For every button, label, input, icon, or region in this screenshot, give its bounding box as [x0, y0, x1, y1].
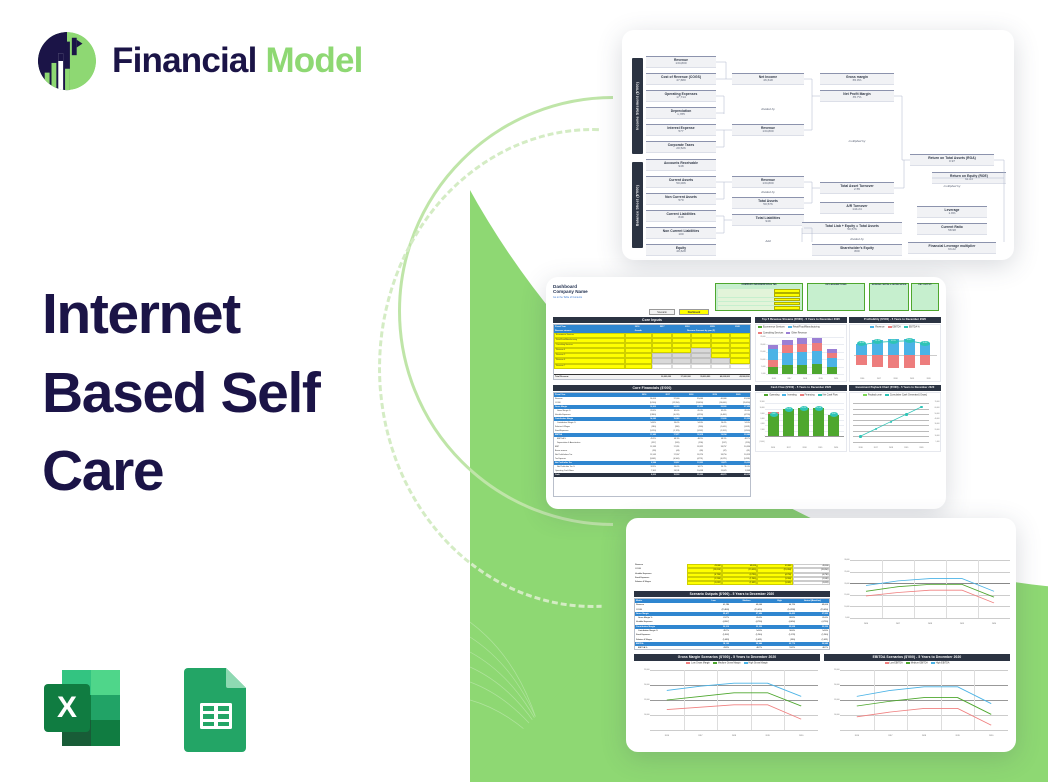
scenario-content: Revenue43,00043,00043,00043,000 COGS(15,… — [632, 522, 1010, 746]
flow-box-ratio-3: A/R Turnover 144.24 — [820, 202, 894, 214]
legend-item-medium-gross-margin: Medium Gross Margin — [713, 662, 741, 665]
income-statement-band: Income Statement ($'000) — [632, 58, 643, 154]
legend-item-cumulative-cash: Cumulative Cash Generated (Gross) — [885, 394, 927, 397]
investment-payback-chart: Payback year Cumulative Cash Generated (… — [849, 392, 941, 452]
revenue-streams-chart-title: Top 5 Revenue Streams ($'000) - 5 Years … — [755, 317, 847, 323]
flow-box-mid-4: Total Liabilities 949 — [732, 214, 804, 226]
flow-box-right-2: Leverage 1.9% — [917, 206, 987, 218]
key-assumptions-panel: KEY ASSUMPTIONS — [807, 283, 865, 311]
scenario-top-right-chart: 30,000 25,000 20,000 15,000 10,000 5,000… — [836, 556, 1012, 630]
legend-item-2: Consulting Services — [758, 332, 783, 335]
legend-item-medium-ebitda: Medium EBITDA — [906, 662, 928, 665]
svg-text:X: X — [57, 691, 77, 724]
brand-logo: Financial Model — [36, 30, 363, 92]
flow-box-balance-3: Current Liabilities 849 — [646, 210, 716, 222]
flow-box-mid-2: Revenue 134,800 — [732, 176, 804, 188]
scenario-button[interactable]: Scenario — [649, 309, 675, 315]
flow-box-right-0: Return on Total Assets (ROA) 0.97 — [910, 154, 994, 166]
financial-model-circle-logo-icon — [36, 30, 98, 92]
revenue-streams-legend: Ecommerce Services Retail/Food/Manufactu… — [758, 326, 844, 334]
flow-box-balance-2: Non Current Assets 570 — [646, 193, 716, 205]
legend-item-low-ebitda: Low EBITDA — [885, 662, 903, 665]
gross-margin-legend: Low Gross Margin Medium Gross Margin Hig… — [636, 662, 818, 665]
flow-operator-2: divided by — [732, 190, 804, 194]
scenario-outputs-table: Metric Low Medium High Actual (Baseline)… — [634, 598, 830, 650]
left-content-panel: Financial Model Internet Based Self Care… — [0, 0, 470, 782]
core-financials-table: Fiscal Year 20162017 20182019 2020 Reven… — [553, 392, 751, 497]
flow-box-balance-0: Accounts Receivable 948 — [646, 159, 716, 171]
cash-flow-chart-title: Cash Flow ($'000) - 5 Years to December … — [755, 385, 847, 391]
profitability-chart-title: Profitability ($'000) - 5 Years to Decem… — [849, 317, 941, 323]
flow-box-mid-0: Net Income 46,618 — [732, 73, 804, 85]
table-row: EBITDA %43.9%48.7%53.2%48.7% — [635, 646, 829, 650]
dashboard-button[interactable]: Dashboard — [679, 309, 709, 315]
brand-wordmark: Financial Model — [112, 41, 363, 81]
legend-item-high-ebitda: High EBITDA — [931, 662, 950, 665]
legend-item-revenue: Revenue — [870, 326, 884, 329]
flow-box-income-2: Operating Expenses 17,714 — [646, 90, 716, 102]
flow-box-ratio-0: Gross margin 65.0% — [820, 73, 894, 85]
key-output-panel: KEY OUTPUT — [911, 283, 939, 311]
flow-box-right-3: Current Ratio 58.98 — [917, 223, 987, 235]
legend-item-ebitda-pct: EBITDA % — [904, 326, 920, 329]
flow-operator-5: divided by — [820, 237, 894, 241]
core-financials-section-title: Core Financials ($'000) — [553, 385, 751, 391]
flow-box-ratio-5: Shareholder's Equity 800 — [812, 244, 902, 256]
flow-box-income-1: Cost of Revenue (COGS) 47,680 — [646, 73, 716, 85]
legend-item-investing: Investing — [782, 394, 796, 397]
flow-box-right-4: Financial Leverage multiplier 63.22 — [908, 242, 996, 254]
cash-flow-legend: Operating Investing Financing Net Cash F… — [758, 394, 844, 397]
flow-box-balance-1: Current Assets 50,006 — [646, 176, 716, 188]
legend-item-ebitda: EBITDA — [888, 326, 901, 329]
legend-item-low-gross-margin: Low Gross Margin — [686, 662, 710, 665]
page-title: Internet Based Self Care — [42, 275, 442, 511]
legend-item-0: Ecommerce Services — [758, 326, 785, 329]
legend-item-high-gross-margin: High Gross Margin — [744, 662, 768, 665]
logo-text-primary: Financial — [112, 41, 257, 80]
supported-apps: X — [36, 662, 262, 754]
ebitda-legend: Low EBITDA Medium EBITDA High EBITDA — [826, 662, 1008, 665]
gross-margin-scenarios-title: Gross Margin Scenarios ($'000) - 5 Years… — [634, 654, 820, 661]
flow-operator-4: multiplied by — [910, 184, 994, 188]
scenario-outputs-section-title: Scenario Outputs ($'000) - 5 Years to De… — [634, 591, 830, 597]
core-inputs-table: Fiscal Year 20162017 20182019 2020 Reven… — [553, 324, 751, 380]
total-revenue-label: Total Revenue — [554, 375, 652, 379]
core-inputs-section-title: Core Inputs — [553, 317, 751, 323]
legend-item-operating: Operating — [764, 394, 779, 397]
revenue-streams-chart: Ecommerce Services Retail/Food/Manufactu… — [755, 324, 847, 382]
flow-box-mid-3: Total Assets 50,576 — [732, 197, 804, 209]
legend-item-1: Retail/Food/Manufacturing — [788, 326, 820, 329]
ebitda-scenarios-chart: Low EBITDA Medium EBITDA High EBITDA — [824, 662, 1010, 740]
profitability-legend: Revenue EBITDA EBITDA % — [852, 326, 938, 329]
profitability-chart: Revenue EBITDA EBITDA % — [849, 324, 941, 382]
financial-ratio-flow-diagram-screenshot[interactable]: Income Statement ($'000) Balance Sheet (… — [622, 30, 1014, 260]
page-title-line-1: Internet — [42, 275, 442, 354]
flow-box-ratio-2: Total Asset Turnover 2.55 — [820, 182, 894, 194]
page-title-line-3: Care — [42, 432, 442, 511]
legend-item-financing: Financing — [800, 394, 815, 397]
flow-box-income-0: Revenue 134,800 — [646, 56, 716, 68]
flow-box-ratio-1: Net Profit Margin 35.7% — [820, 90, 894, 102]
flow-box-ratio-4: Total Liab + Equity = Total Assets 50,57… — [802, 222, 902, 234]
flow-box-income-5: Corporate Taxes 20,526 — [646, 141, 716, 153]
flow-box-balance-4: Non Current Liabilities 100 — [646, 227, 716, 239]
gross-margin-scenarios-chart: Low Gross Margin Medium Gross Margin Hig… — [634, 662, 820, 740]
scenario-input-rows: Revenue43,00043,00043,00043,000 COGS(15,… — [634, 564, 830, 588]
cash-flow-chart: Operating Investing Financing Net Cash F… — [755, 392, 847, 452]
microsoft-excel-icon: X — [36, 662, 128, 754]
scenario-outputs-screenshot[interactable]: Revenue43,00043,00043,00043,000 COGS(15,… — [626, 518, 1016, 752]
logo-text-accent: Model — [265, 41, 362, 80]
balance-sheet-band: Balance Sheet ($'000) — [632, 162, 643, 248]
investment-payback-chart-title: Investment Payback Chart ($'000) - 5 Yea… — [849, 385, 941, 391]
page-title-line-2: Based Self — [42, 354, 442, 433]
dashboard-heading: Dashboard Company Name Go to the Table o… — [553, 284, 588, 299]
ratio-flow-chart: Income Statement ($'000) Balance Sheet (… — [632, 54, 1008, 242]
legend-item-3: Other Revenue — [786, 332, 807, 335]
flow-box-right-1: Return on Equity (ROE) 61.03 — [932, 172, 1006, 184]
flow-box-income-3: Depreciation 1,785 — [646, 107, 716, 119]
flow-operator-0: divided by — [732, 107, 804, 111]
dashboard-content: Dashboard Company Name Go to the Table o… — [551, 281, 941, 504]
payback-legend: Payback year Cumulative Cash Generated (… — [852, 394, 938, 397]
google-sheets-icon — [170, 662, 262, 754]
flow-operator-1: multiplied by — [820, 139, 894, 143]
working-capital-panel: WORKING CAPITAL & DEPRECIATION — [869, 283, 909, 311]
flow-box-mid-1: Revenue 134,800 — [732, 124, 804, 136]
flow-box-balance-5: Equity 49,628 — [646, 244, 716, 256]
dashboard-company-name: Company Name — [553, 289, 588, 294]
legend-item-payback-year: Payback year — [863, 394, 882, 397]
company-information-panel: COMPANY INFORMATION & Tab — [715, 283, 803, 311]
dashboard-screenshot[interactable]: Dashboard Company Name Go to the Table o… — [546, 277, 946, 509]
ebitda-scenarios-title: EBITDA Scenarios ($'000) - 5 Years to De… — [824, 654, 1010, 661]
flow-operator-3: Add — [732, 239, 804, 243]
legend-item-net-cash-flow: Net Cash Flow — [818, 394, 838, 397]
dashboard-toc-link[interactable]: Go to the Table of Contents — [553, 296, 588, 299]
flow-box-income-4: Interest Expense 577 — [646, 124, 716, 136]
